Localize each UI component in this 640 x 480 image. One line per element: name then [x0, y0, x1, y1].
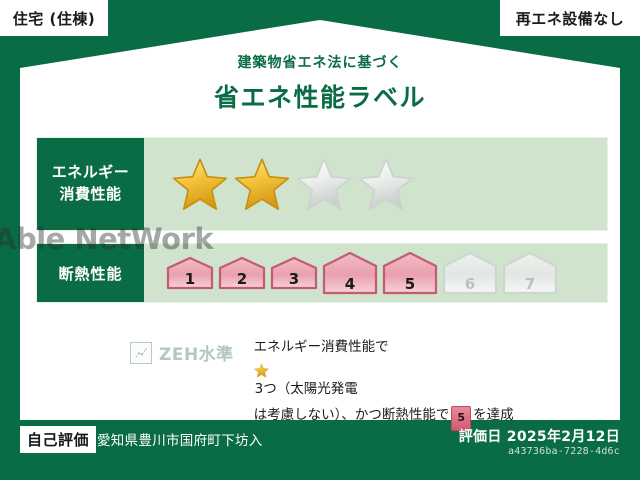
energy-key-line2: 消費性能 — [59, 184, 121, 206]
insulation-grade-scale: 1234567 — [144, 244, 607, 302]
self-evaluation-badge: 自己評価 — [20, 426, 96, 453]
grade-number: 4 — [322, 277, 378, 292]
evaluation-date: 評価日 2025年2月12日 — [459, 426, 620, 446]
energy-performance-row: エネルギー 消費性能 — [36, 137, 608, 231]
star-rating — [144, 138, 607, 230]
grade-number: 2 — [218, 272, 266, 287]
footer: 自己評価 愛知県豊川市国府町下坊入 評価日 2025年2月12日 a43736b… — [0, 420, 640, 480]
zeh-desc-stars: 3つ（太陽光発電 — [255, 381, 358, 397]
insulation-grade-7-inactive: 7 — [502, 251, 558, 295]
energy-key-line1: エネルギー — [52, 162, 130, 184]
energy-performance-label-key: エネルギー 消費性能 — [37, 138, 144, 230]
inline-star-icon — [254, 363, 514, 378]
grade-number: 7 — [502, 277, 558, 292]
property-address: 愛知県豊川市国府町下坊入 — [97, 429, 263, 449]
grade-number: 5 — [382, 277, 438, 292]
energy-performance-label: 住宅 (住棟) 再エネ設備なし 建築物省エネ法に基づく 省エネ性能ラベル エネル… — [0, 0, 640, 480]
insulation-performance-row: 断熱性能 1234567 — [36, 243, 608, 303]
evaluation-id: a43736ba-7228-4d6c — [508, 446, 620, 457]
star-4-empty-icon — [358, 156, 414, 212]
zeh-tag: ZEH水準 — [130, 336, 234, 365]
zeh-desc-part1: エネルギー消費性能で — [254, 339, 389, 355]
grade-number: 6 — [442, 277, 498, 292]
star-2-filled-icon — [234, 156, 290, 212]
insulation-grade-1-active: 1 — [166, 256, 214, 290]
insulation-grade-5-active: 5 — [382, 251, 438, 295]
grade-number: 3 — [270, 272, 318, 287]
zeh-standard-block: ZEH水準 エネルギー消費性能で3つ（太陽光発電 は考慮しない）、かつ断熱性能で… — [130, 336, 514, 431]
insulation-grade-2-active: 2 — [218, 256, 266, 290]
building-type-badge: 住宅 (住棟) — [0, 0, 108, 36]
star-1-filled-icon — [172, 156, 228, 212]
insulation-grade-4-active: 4 — [322, 251, 378, 295]
insulation-grade-6-inactive: 6 — [442, 251, 498, 295]
zeh-label: ZEH水準 — [159, 340, 234, 365]
zeh-description: エネルギー消費性能で3つ（太陽光発電 は考慮しない）、かつ断熱性能で5を達成 — [254, 336, 514, 431]
star-3-empty-icon — [296, 156, 352, 212]
insulation-performance-label-key: 断熱性能 — [37, 244, 144, 302]
grade-number: 1 — [166, 272, 214, 287]
renewable-equipment-badge: 再エネ設備なし — [500, 0, 640, 36]
insulation-grade-3-active: 3 — [270, 256, 318, 290]
zeh-chart-icon — [130, 342, 152, 364]
